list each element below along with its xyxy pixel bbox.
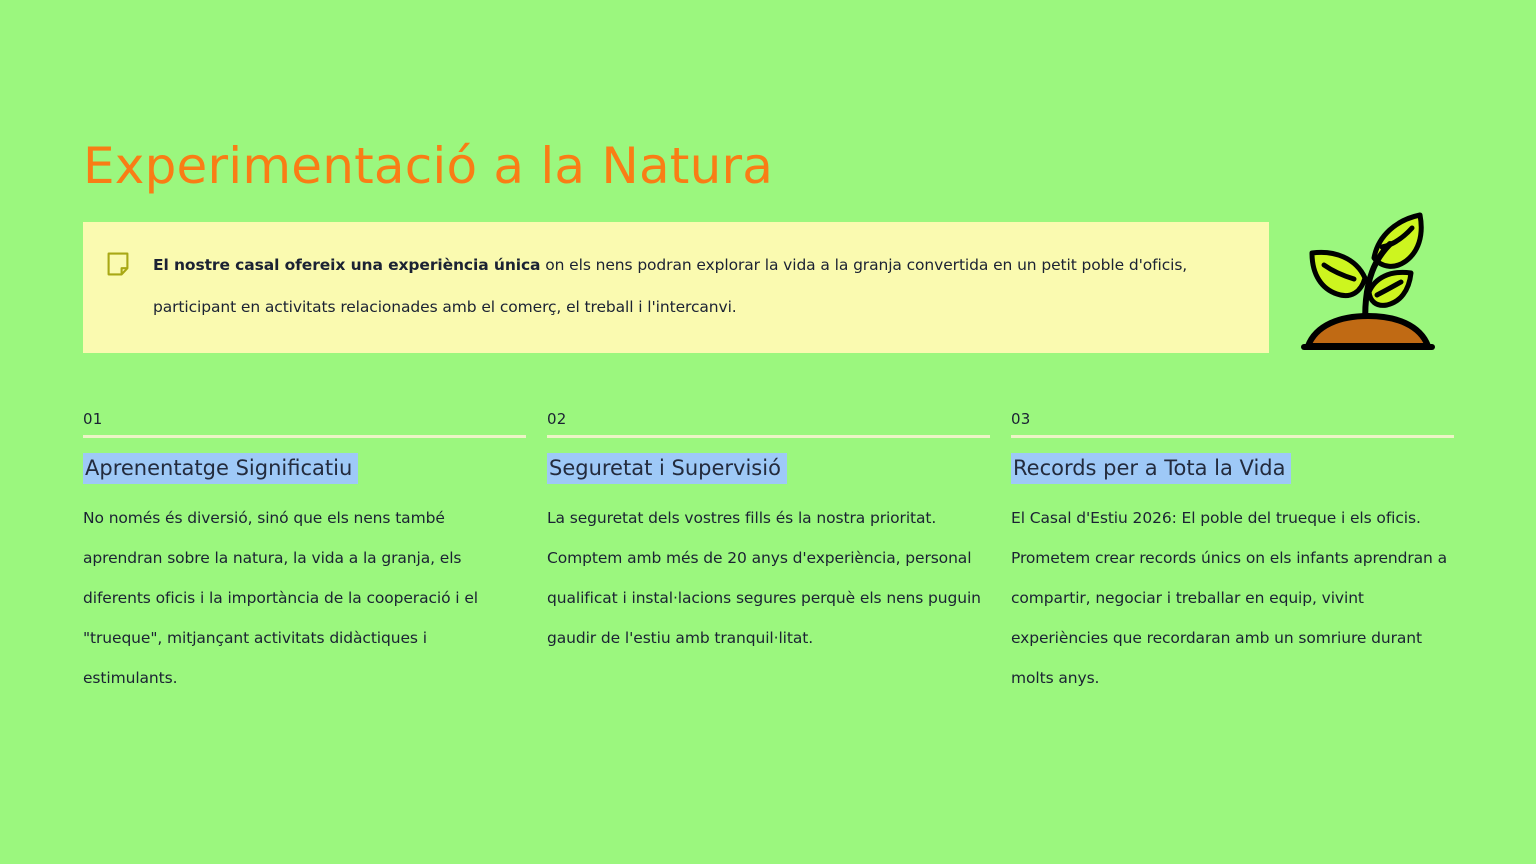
callout-lead: El nostre casal ofereix una experiència … [153, 256, 540, 274]
column-heading: Records per a Tota la Vida [1011, 454, 1454, 482]
page-title: Experimentació a la Natura [83, 138, 773, 196]
feature-columns: 01 Aprenentatge Significatiu No només és… [83, 412, 1453, 698]
column-number: 01 [83, 412, 526, 435]
note-icon [107, 252, 129, 276]
column-divider [547, 435, 990, 438]
column-divider [83, 435, 526, 438]
column-body: El Casal d'Estiu 2026: El poble del true… [1011, 498, 1454, 698]
column-heading: Aprenentatge Significatiu [83, 454, 526, 482]
column-number: 02 [547, 412, 990, 435]
column-body: La seguretat dels vostres fills és la no… [547, 498, 990, 658]
column-heading-highlight: Records per a Tota la Vida [1011, 453, 1291, 484]
callout-text: El nostre casal ofereix una experiència … [153, 244, 1245, 328]
callout-box: El nostre casal ofereix una experiència … [83, 222, 1269, 353]
feature-column-03: 03 Records per a Tota la Vida El Casal d… [1011, 412, 1454, 698]
feature-column-01: 01 Aprenentatge Significatiu No només és… [83, 412, 526, 698]
column-heading: Seguretat i Supervisió [547, 454, 990, 482]
seedling-icon [1296, 206, 1446, 358]
slide-canvas: Experimentació a la Natura El nostre cas… [0, 0, 1536, 864]
column-heading-highlight: Aprenentatge Significatiu [83, 453, 358, 484]
column-divider [1011, 435, 1454, 438]
column-number: 03 [1011, 412, 1454, 435]
feature-column-02: 02 Seguretat i Supervisió La seguretat d… [547, 412, 990, 698]
column-body: No només és diversió, sinó que els nens … [83, 498, 526, 698]
column-heading-highlight: Seguretat i Supervisió [547, 453, 787, 484]
